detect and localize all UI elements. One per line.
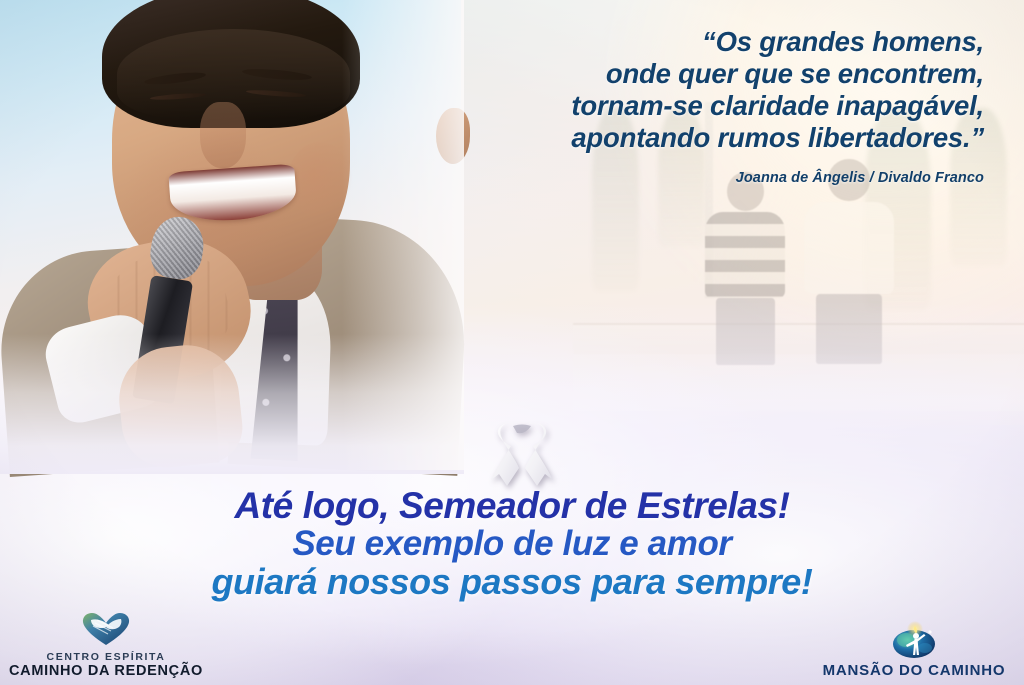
headline-line-2: Seu exemplo de luz e amor xyxy=(0,525,1024,563)
headline-line-3: guiará nossos passos para sempre! xyxy=(0,563,1024,601)
headline-message: Até logo, Semeador de Estrelas! Seu exem… xyxy=(0,487,1024,601)
quote-line-1: “Os grandes homens, xyxy=(424,26,984,58)
logo-mansao-do-caminho: MANSÃO DO CAMINHO xyxy=(808,620,1020,679)
quote-attribution: Joanna de Ângelis / Divaldo Franco xyxy=(424,170,984,186)
memorial-poster: “Os grandes homens, onde quer que se enc… xyxy=(0,0,1024,685)
quote-line-3: tornam-se claridade inapagável, xyxy=(424,90,984,122)
heart-hands-icon xyxy=(6,608,206,650)
white-ribbon-icon xyxy=(489,412,555,488)
logo-left-line-1: CENTRO ESPÍRITA xyxy=(6,651,206,663)
headline-line-1: Até logo, Semeador de Estrelas! xyxy=(0,487,1024,525)
quote-line-2: onde quer que se encontrem, xyxy=(424,58,984,90)
portrait-photo xyxy=(0,0,464,470)
quote-line-4: apontando rumos libertadores.” xyxy=(424,122,984,154)
logo-centro-espirita: CENTRO ESPÍRITA CAMINHO DA REDENÇÃO xyxy=(6,608,206,679)
logo-right-line-2: MANSÃO DO CAMINHO xyxy=(808,662,1020,679)
globe-figure-icon xyxy=(808,620,1020,662)
quote-text: “Os grandes homens, onde quer que se enc… xyxy=(424,26,984,154)
logo-left-line-2: CAMINHO DA REDENÇÃO xyxy=(6,663,206,679)
